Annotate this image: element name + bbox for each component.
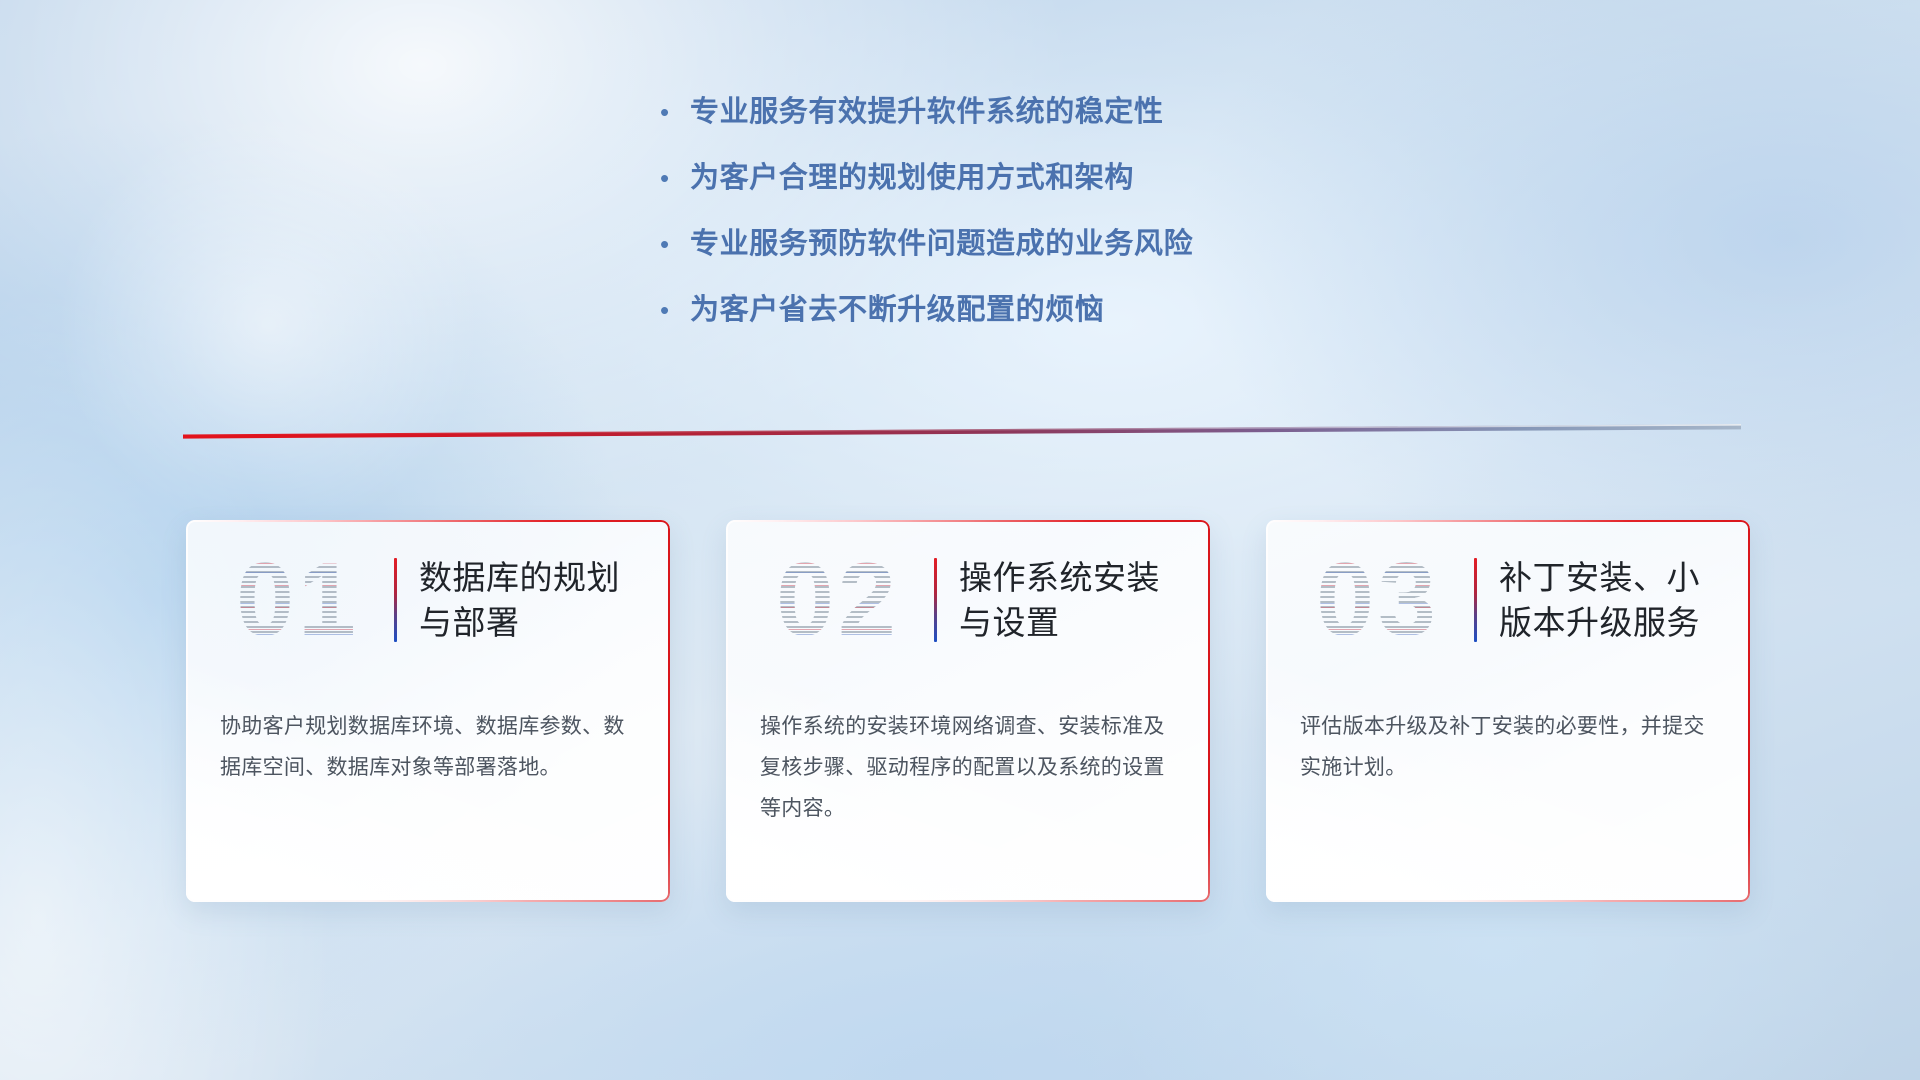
service-card-02[interactable]: 02 02 02 操作系统安装与设置 操作系统的安装环境网络调查、安装标准及复核… xyxy=(726,520,1210,902)
bullet-dot-icon: • xyxy=(660,224,690,264)
card-header: 03 03 03 补丁安装、小版本升级服务 xyxy=(1266,534,1750,666)
bullet-item-label: 专业服务预防软件问题造成的业务风险 xyxy=(690,224,1193,264)
card-body-text: 评估版本升级及补丁安装的必要性，并提交实施计划。 xyxy=(1300,706,1720,788)
card-title-label: 操作系统安装与设置 xyxy=(959,555,1210,645)
card-header: 01 01 01 数据库的规划与部署 xyxy=(186,534,670,666)
list-item: • 为客户省去不断升级配置的烦恼 xyxy=(660,290,1420,342)
list-item: • 为客户合理的规划使用方式和架构 xyxy=(660,158,1420,210)
card-number-graphic: 03 03 03 xyxy=(1288,541,1468,659)
card-title-rule xyxy=(394,558,397,642)
section-divider xyxy=(183,424,1741,444)
card-number-tint-blue: 02 xyxy=(748,541,928,659)
card-number-tint-blue: 03 xyxy=(1288,541,1468,659)
card-body-text: 协助客户规划数据库环境、数据库参数、数据库空间、数据库对象等部署落地。 xyxy=(220,706,640,788)
service-card-01[interactable]: 01 01 01 数据库的规划与部署 协助客户规划数据库环境、数据库参数、数据库… xyxy=(186,520,670,902)
card-title-label: 数据库的规划与部署 xyxy=(419,555,670,645)
list-item: • 专业服务有效提升软件系统的稳定性 xyxy=(660,92,1420,144)
bullet-dot-icon: • xyxy=(660,92,690,132)
service-card-03[interactable]: 03 03 03 补丁安装、小版本升级服务 评估版本升级及补丁安装的必要性，并提… xyxy=(1266,520,1750,902)
card-body-text: 操作系统的安装环境网络调查、安装标准及复核步骤、驱动程序的配置以及系统的设置等内… xyxy=(760,706,1180,829)
bullet-item-label: 为客户省去不断升级配置的烦恼 xyxy=(690,290,1104,330)
bullet-item-label: 专业服务有效提升软件系统的稳定性 xyxy=(690,92,1164,132)
bullet-dot-icon: • xyxy=(660,158,690,198)
bullet-item-label: 为客户合理的规划使用方式和架构 xyxy=(690,158,1134,198)
card-number-graphic: 01 01 01 xyxy=(208,541,388,659)
list-item: • 专业服务预防软件问题造成的业务风险 xyxy=(660,224,1420,276)
card-number-tint-blue: 01 xyxy=(208,541,388,659)
divider-wedge-icon xyxy=(183,424,1741,444)
card-number-graphic: 02 02 02 xyxy=(748,541,928,659)
card-title-label: 补丁安装、小版本升级服务 xyxy=(1499,555,1750,645)
card-row: 01 01 01 数据库的规划与部署 协助客户规划数据库环境、数据库参数、数据库… xyxy=(186,520,1752,910)
card-title-rule xyxy=(934,558,937,642)
bullet-list: • 专业服务有效提升软件系统的稳定性 • 为客户合理的规划使用方式和架构 • 专… xyxy=(660,92,1420,356)
card-title-rule xyxy=(1474,558,1477,642)
card-header: 02 02 02 操作系统安装与设置 xyxy=(726,534,1210,666)
bullet-dot-icon: • xyxy=(660,290,690,330)
